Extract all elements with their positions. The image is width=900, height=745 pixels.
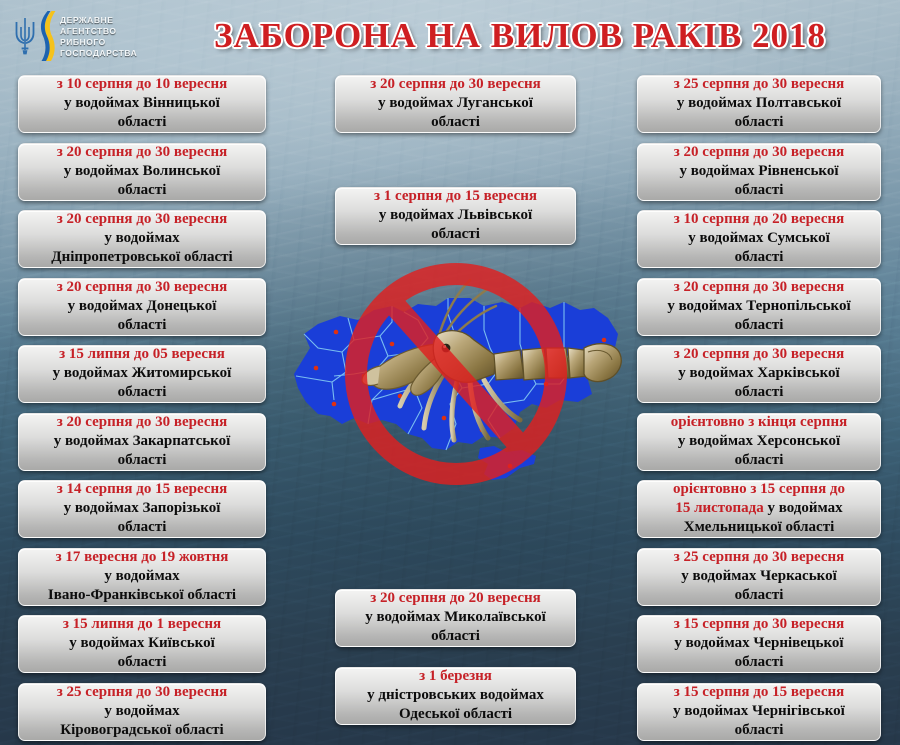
card-location-line: області bbox=[25, 653, 259, 672]
logo-text: ДЕРЖАВНЕ АГЕНТСТВО РИБНОГО ГОСПОДАРСТВА bbox=[60, 15, 137, 58]
poster: ДЕРЖАВНЕ АГЕНТСТВО РИБНОГО ГОСПОДАРСТВА … bbox=[0, 0, 900, 745]
card-period: з 20 серпня до 30 вересня bbox=[644, 278, 874, 297]
card-location-line: Івано-Франківської області bbox=[25, 586, 259, 605]
card-period: з 20 серпня до 30 вересня bbox=[25, 278, 259, 297]
page-title: ЗАБОРОНА НА ВИЛОВ РАКІВ 2018 bbox=[150, 14, 890, 58]
region-card: з 20 серпня до 30 вересняу водоймах Рівн… bbox=[637, 143, 881, 201]
map-crayfish-illustration bbox=[288, 248, 624, 500]
card-period: з 20 серпня до 20 вересня bbox=[342, 589, 569, 608]
card-period: з 20 серпня до 30 вересня bbox=[25, 413, 259, 432]
card-location-line: у водоймах Запорізької bbox=[25, 499, 259, 518]
region-card: з 14 серпня до 15 вересняу водоймах Запо… bbox=[18, 480, 266, 538]
card-location-line: у водоймах Волинської bbox=[25, 162, 259, 181]
card-location-line: області bbox=[644, 451, 874, 470]
card-location-line: у водоймах bbox=[25, 229, 259, 248]
card-location-line: області bbox=[25, 451, 259, 470]
region-card: з 15 серпня до 15 вересняу водоймах Черн… bbox=[637, 683, 881, 741]
card-period: з 25 серпня до 30 вересня bbox=[644, 548, 874, 567]
card-period: з 10 серпня до 10 вересня bbox=[25, 75, 259, 94]
region-card: з 20 серпня до 30 вересняу водоймах Харк… bbox=[637, 345, 881, 403]
card-location-line: у водоймах Рівненської bbox=[644, 162, 874, 181]
region-card: з 20 серпня до 30 вересняу водоймах Зака… bbox=[18, 413, 266, 471]
card-location-line: області bbox=[644, 653, 874, 672]
card-period: з 1 серпня до 15 вересня bbox=[342, 187, 569, 206]
logo-line-3: РИБНОГО bbox=[60, 37, 137, 47]
region-card: з 20 серпня до 30 вересняу водоймахДніпр… bbox=[18, 210, 266, 268]
card-location-line: у водоймах Донецької bbox=[25, 297, 259, 316]
region-card: з 1 березняу дністровських водоймахОдесь… bbox=[335, 667, 576, 725]
card-period: з 25 серпня до 30 вересня bbox=[25, 683, 259, 702]
region-card: орієнтовно з кінця серпняу водоймах Херс… bbox=[637, 413, 881, 471]
trident-icon bbox=[14, 16, 36, 56]
card-location-line: області bbox=[25, 518, 259, 537]
card-location-line: у водоймах Чернігівської bbox=[644, 702, 874, 721]
card-location-line: області bbox=[644, 383, 874, 402]
card-period: з 17 вересня до 19 жовтня bbox=[25, 548, 259, 567]
card-location-line: у водоймах bbox=[25, 567, 259, 586]
card-period: з 15 серпня до 30 вересня bbox=[644, 615, 874, 634]
card-period: з 25 серпня до 30 вересня bbox=[644, 75, 874, 94]
card-location-line: у водоймах Київської bbox=[25, 634, 259, 653]
card-location-line: області bbox=[25, 383, 259, 402]
card-period: орієнтовно з кінця серпня bbox=[644, 413, 874, 432]
card-location-line: області bbox=[644, 113, 874, 132]
card-location-line: області bbox=[342, 113, 569, 132]
card-location-line: області bbox=[25, 181, 259, 200]
region-card: з 1 серпня до 15 вересняу водоймах Львів… bbox=[335, 187, 576, 245]
region-card: з 20 серпня до 30 вересняу водоймах Луга… bbox=[335, 75, 576, 133]
card-period: з 20 серпня до 30 вересня bbox=[644, 143, 874, 162]
card-location-line: у водоймах Чернівецької bbox=[644, 634, 874, 653]
card-period: з 15 липня до 05 вересня bbox=[25, 345, 259, 364]
card-location-line: області bbox=[25, 113, 259, 132]
card-location-line: області bbox=[644, 316, 874, 335]
center-artwork bbox=[288, 248, 624, 500]
card-location-line: області bbox=[644, 248, 874, 267]
card-location-line: у водоймах Вінницької bbox=[25, 94, 259, 113]
card-period: з 15 липня до 1 вересня bbox=[25, 615, 259, 634]
card-period: з 15 серпня до 15 вересня bbox=[644, 683, 874, 702]
region-card: з 17 вересня до 19 жовтняу водоймахІвано… bbox=[18, 548, 266, 606]
region-card: з 20 серпня до 30 вересняу водоймах Доне… bbox=[18, 278, 266, 336]
card-location-line: області bbox=[342, 225, 569, 244]
card-location-line: області bbox=[644, 586, 874, 605]
card-location-line: у водоймах Черкаської bbox=[644, 567, 874, 586]
card-period: з 20 серпня до 30 вересня bbox=[25, 210, 259, 229]
agency-logo: ДЕРЖАВНЕ АГЕНТСТВО РИБНОГО ГОСПОДАРСТВА bbox=[14, 6, 164, 66]
card-location-line: області bbox=[25, 316, 259, 335]
card-period: з 20 серпня до 30 вересня bbox=[25, 143, 259, 162]
card-location-line: області bbox=[342, 627, 569, 646]
card-location-line: Хмельницької області bbox=[644, 518, 874, 537]
card-location-line: Дніпропетровської області bbox=[25, 248, 259, 267]
logo-line-2: АГЕНТСТВО bbox=[60, 26, 137, 36]
region-card: з 25 серпня до 30 вересняу водоймах Черк… bbox=[637, 548, 881, 606]
region-card: з 15 серпня до 30 вересняу водоймах Черн… bbox=[637, 615, 881, 673]
card-period-continued: 15 листопада у водоймах bbox=[644, 499, 874, 518]
card-location-line: у водоймах Тернопільської bbox=[644, 297, 874, 316]
region-card: орієнтовно з 15 серпня до15 листопада у … bbox=[637, 480, 881, 538]
region-card: з 15 липня до 05 вересняу водоймах Житом… bbox=[18, 345, 266, 403]
card-location-line: у водоймах Харківської bbox=[644, 364, 874, 383]
card-location-line: у водоймах Миколаївської bbox=[342, 608, 569, 627]
logo-line-4: ГОСПОДАРСТВА bbox=[60, 48, 137, 58]
region-card: з 25 серпня до 30 вересняу водоймахКіров… bbox=[18, 683, 266, 741]
card-location-line: у водоймах bbox=[25, 702, 259, 721]
card-period: з 14 серпня до 15 вересня bbox=[25, 480, 259, 499]
card-location-line: області bbox=[644, 181, 874, 200]
card-location-line: Кіровоградської області bbox=[25, 721, 259, 740]
region-card: з 20 серпня до 30 вересняу водоймах Терн… bbox=[637, 278, 881, 336]
card-location-line: у дністровських водоймах bbox=[342, 686, 569, 705]
card-period: з 10 серпня до 20 вересня bbox=[644, 210, 874, 229]
region-card: з 25 серпня до 30 вересняу водоймах Полт… bbox=[637, 75, 881, 133]
card-location-line: у водоймах Сумської bbox=[644, 229, 874, 248]
wave-icon bbox=[40, 10, 56, 62]
region-card: з 10 серпня до 10 вересняу водоймах Вінн… bbox=[18, 75, 266, 133]
card-location-line: у водоймах Львівської bbox=[342, 206, 569, 225]
card-location-line: у водоймах Херсонської bbox=[644, 432, 874, 451]
card-location-line: у водоймах Закарпатської bbox=[25, 432, 259, 451]
card-period: з 20 серпня до 30 вересня bbox=[342, 75, 569, 94]
card-location-line: у водоймах Луганської bbox=[342, 94, 569, 113]
region-card: з 10 серпня до 20 вересняу водоймах Сумс… bbox=[637, 210, 881, 268]
card-location-line: у водоймах Полтавської bbox=[644, 94, 874, 113]
region-card: з 20 серпня до 30 вересняу водоймах Воли… bbox=[18, 143, 266, 201]
region-card: з 15 липня до 1 вересняу водоймах Київсь… bbox=[18, 615, 266, 673]
card-location-line: області bbox=[644, 721, 874, 740]
logo-line-1: ДЕРЖАВНЕ bbox=[60, 15, 137, 25]
card-period: з 1 березня bbox=[342, 667, 569, 686]
region-card: з 20 серпня до 20 вересняу водоймах Мико… bbox=[335, 589, 576, 647]
card-period: орієнтовно з 15 серпня до bbox=[644, 480, 874, 499]
card-period: з 20 серпня до 30 вересня bbox=[644, 345, 874, 364]
card-location-line: Одеської області bbox=[342, 705, 569, 724]
card-location-line: у водоймах Житомирської bbox=[25, 364, 259, 383]
